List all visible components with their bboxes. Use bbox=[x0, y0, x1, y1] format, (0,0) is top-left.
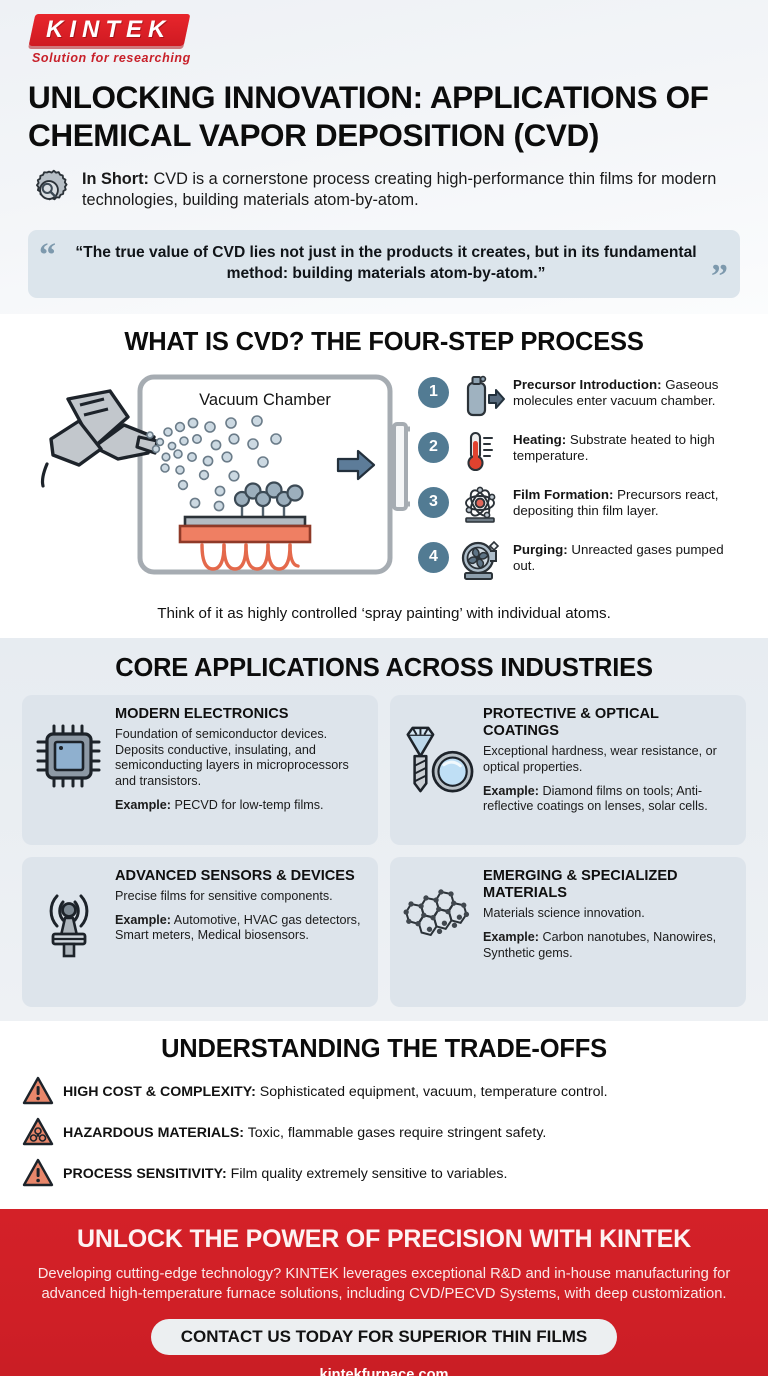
step-label: Purging: bbox=[513, 542, 568, 557]
card-description: Precise films for sensitive components. bbox=[115, 889, 366, 905]
tradeoff-label: PROCESS SENSITIVITY: bbox=[63, 1166, 227, 1182]
step-label: Precursor Introduction: bbox=[513, 377, 662, 392]
card-example-label: Example: bbox=[115, 798, 171, 812]
brand-logo[interactable]: KINTEK Solution for researching bbox=[32, 14, 740, 65]
application-card[interactable]: EMERGING & SPECIALIZED MATERIALS Materia… bbox=[390, 857, 746, 1007]
vacuum-chamber-diagram: Vacuum Chamber bbox=[20, 369, 410, 599]
tradeoff-body: Sophisticated equipment, vacuum, tempera… bbox=[256, 1084, 608, 1100]
website-url[interactable]: kintekfurnace.com bbox=[24, 1367, 744, 1376]
process-analogy: Think of it as highly controlled ‘spray … bbox=[20, 605, 748, 632]
process-row: Vacuum Chamber 1 Precursor Intr bbox=[20, 369, 748, 599]
card-title: ADVANCED SENSORS & DEVICES bbox=[115, 868, 366, 885]
tradeoff-body: Film quality extremely sensitive to vari… bbox=[227, 1166, 508, 1182]
step-number: 3 bbox=[418, 487, 449, 518]
tradeoff-body: Toxic, flammable gases require stringent… bbox=[244, 1125, 546, 1141]
card-body: EMERGING & SPECIALIZED MATERIALS Materia… bbox=[483, 868, 734, 962]
tradeoffs-section: UNDERSTANDING THE TRADE-OFFS HIGH COST &… bbox=[0, 1021, 768, 1209]
in-short-block: In Short: CVD is a cornerstone process c… bbox=[28, 169, 740, 216]
tradeoff-item: PROCESS SENSITIVITY: Film quality extrem… bbox=[22, 1158, 746, 1192]
card-example: Example: Carbon nanotubes, Nanowires, Sy… bbox=[483, 930, 734, 962]
step-text: Precursor Introduction: Gaseous molecule… bbox=[513, 375, 748, 411]
diamond-drill-lens-icon bbox=[400, 706, 474, 798]
microchip-icon bbox=[32, 706, 106, 792]
card-title: EMERGING & SPECIALIZED MATERIALS bbox=[483, 868, 734, 902]
process-step: 2 bbox=[418, 430, 748, 474]
card-body: ADVANCED SENSORS & DEVICES Precise films… bbox=[115, 868, 366, 945]
step-text: Heating: Substrate heated to high temper… bbox=[513, 430, 748, 466]
application-card[interactable]: MODERN ELECTRONICS Foundation of semicon… bbox=[22, 695, 378, 845]
cta-section: UNLOCK THE POWER OF PRECISION WITH KINTE… bbox=[0, 1209, 768, 1376]
card-description: Foundation of semiconductor devices. Dep… bbox=[115, 727, 366, 790]
tradeoff-item: HAZARDOUS MATERIALS: Toxic, flammable ga… bbox=[22, 1117, 746, 1151]
process-step: 3 bbox=[418, 485, 748, 529]
card-example: Example: Diamond films on tools; Anti-re… bbox=[483, 784, 734, 816]
step-label: Heating: bbox=[513, 432, 566, 447]
applications-section: CORE APPLICATIONS ACROSS INDUSTRIES bbox=[0, 638, 768, 1021]
infographic-page: KINTEK Solution for researching UNLOCKIN… bbox=[0, 0, 768, 1376]
in-short-body: CVD is a cornerstone process creating hi… bbox=[82, 170, 716, 210]
application-card[interactable]: ADVANCED SENSORS & DEVICES Precise films… bbox=[22, 857, 378, 1007]
tradeoff-text: HAZARDOUS MATERIALS: Toxic, flammable ga… bbox=[63, 1125, 546, 1143]
cta-title: UNLOCK THE POWER OF PRECISION WITH KINTE… bbox=[24, 1225, 744, 1254]
logo-wordmark: KINTEK bbox=[46, 18, 171, 42]
in-short-label: In Short: bbox=[82, 170, 149, 188]
quote-text: “The true value of CVD lies not just in … bbox=[66, 242, 706, 284]
chamber-label: Vacuum Chamber bbox=[199, 391, 331, 409]
step-text: Film Formation: Precursors react, deposi… bbox=[513, 485, 748, 521]
warning-exclamation-icon bbox=[22, 1076, 54, 1110]
card-example: Example: Automotive, HVAC gas detectors,… bbox=[115, 913, 366, 945]
gear-magnifier-icon bbox=[28, 169, 70, 216]
step-label: Film Formation: bbox=[513, 487, 613, 502]
warning-biohazard-icon bbox=[22, 1117, 54, 1151]
card-body: PROTECTIVE & OPTICAL COATINGS Exceptiona… bbox=[483, 706, 734, 816]
in-short-text: In Short: CVD is a cornerstone process c… bbox=[82, 169, 734, 212]
nanotube-lattice-icon bbox=[400, 868, 474, 948]
cta-body: Developing cutting-edge technology? KINT… bbox=[24, 1264, 744, 1305]
step-number: 1 bbox=[418, 377, 449, 408]
gas-cylinder-icon bbox=[455, 375, 507, 419]
hero-section: KINTEK Solution for researching UNLOCKIN… bbox=[0, 0, 768, 314]
card-example-label: Example: bbox=[483, 930, 539, 944]
atom-icon bbox=[455, 485, 507, 529]
process-step: 4 bbox=[418, 540, 748, 584]
contact-us-button[interactable]: CONTACT US TODAY FOR SUPERIOR THIN FILMS bbox=[151, 1319, 617, 1355]
logo-badge: KINTEK bbox=[29, 14, 191, 46]
sensor-antenna-icon bbox=[32, 868, 106, 958]
card-example-text: PECVD for low-temp films. bbox=[171, 798, 324, 812]
applications-title: CORE APPLICATIONS ACROSS INDUSTRIES bbox=[22, 654, 746, 683]
pull-quote: “ “The true value of CVD lies not just i… bbox=[28, 230, 740, 298]
process-steps: 1 Precursor Introduction: Gaseous molecu… bbox=[418, 369, 748, 595]
pump-fan-icon bbox=[455, 540, 507, 584]
tradeoff-label: HIGH COST & COMPLEXITY: bbox=[63, 1084, 256, 1100]
logo-tagline: Solution for researching bbox=[32, 51, 740, 65]
step-number: 4 bbox=[418, 542, 449, 573]
card-description: Materials science innovation. bbox=[483, 906, 734, 922]
tradeoff-label: HAZARDOUS MATERIALS: bbox=[63, 1125, 244, 1141]
card-body: MODERN ELECTRONICS Foundation of semicon… bbox=[115, 706, 366, 814]
tradeoff-text: PROCESS SENSITIVITY: Film quality extrem… bbox=[63, 1166, 507, 1184]
card-example-label: Example: bbox=[115, 913, 171, 927]
application-card[interactable]: PROTECTIVE & OPTICAL COATINGS Exceptiona… bbox=[390, 695, 746, 845]
page-title: UNLOCKING INNOVATION: APPLICATIONS OF CH… bbox=[28, 79, 740, 155]
card-example: Example: PECVD for low-temp films. bbox=[115, 798, 366, 814]
thermometer-icon bbox=[455, 430, 507, 474]
process-step: 1 Precursor Introduction: Gaseous molecu… bbox=[418, 375, 748, 419]
tradeoff-item: HIGH COST & COMPLEXITY: Sophisticated eq… bbox=[22, 1076, 746, 1110]
card-example-label: Example: bbox=[483, 784, 539, 798]
card-description: Exceptional hardness, wear resistance, o… bbox=[483, 744, 734, 776]
process-section: WHAT IS CVD? THE FOUR-STEP PROCESS bbox=[0, 314, 768, 638]
step-text: Purging: Unreacted gases pumped out. bbox=[513, 540, 748, 576]
quote-close-icon: ” bbox=[711, 260, 728, 294]
step-number: 2 bbox=[418, 432, 449, 463]
card-title: MODERN ELECTRONICS bbox=[115, 706, 366, 723]
tradeoffs-title: UNDERSTANDING THE TRADE-OFFS bbox=[22, 1035, 746, 1064]
process-title: WHAT IS CVD? THE FOUR-STEP PROCESS bbox=[20, 328, 748, 357]
card-title: PROTECTIVE & OPTICAL COATINGS bbox=[483, 706, 734, 740]
warning-exclamation-icon bbox=[22, 1158, 54, 1192]
quote-open-icon: “ bbox=[39, 239, 56, 273]
application-cards: MODERN ELECTRONICS Foundation of semicon… bbox=[22, 695, 746, 1007]
tradeoff-text: HIGH COST & COMPLEXITY: Sophisticated eq… bbox=[63, 1084, 608, 1102]
